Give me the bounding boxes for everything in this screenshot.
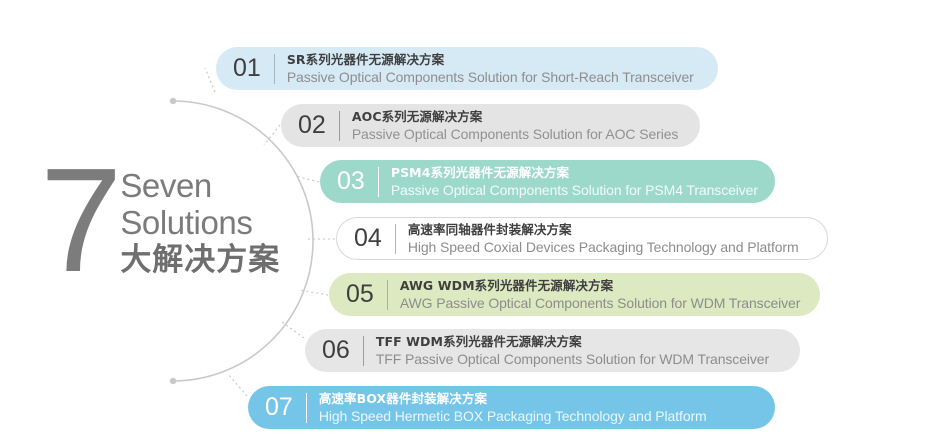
solution-pill-06[interactable]: 06TFF WDM系列光器件无源解决方案TFF Passive Optical … <box>305 329 800 372</box>
arc-endpoint-dot-1 <box>170 98 176 104</box>
connector-line-6 <box>282 322 304 338</box>
solution-pill-02[interactable]: 02AOC系列无源解决方案Passive Optical Components … <box>281 104 700 147</box>
pill-title-cn: TFF WDM系列光器件无源解决方案 <box>376 334 769 350</box>
pill-title-en: TFF Passive Optical Components Solution … <box>376 350 769 368</box>
connector-line-2 <box>264 125 280 145</box>
title-line-chinese: 大解决方案 <box>120 242 280 279</box>
pill-number: 06 <box>305 338 363 363</box>
pill-number: 02 <box>281 113 339 138</box>
pill-text-group: 高速率同轴器件封装解决方案High Speed Coxial Devices P… <box>396 222 817 256</box>
title-line-seven: Seven <box>120 167 280 204</box>
connector-line-7 <box>228 374 247 396</box>
pill-number: 07 <box>248 395 306 420</box>
pill-number: 03 <box>320 169 378 194</box>
pill-title-cn: 高速率BOX器件封装解决方案 <box>319 391 707 407</box>
pill-number: 04 <box>337 226 395 251</box>
solution-pill-07[interactable]: 07高速率BOX器件封装解决方案High Speed Hermetic BOX … <box>248 386 775 429</box>
pill-text-group: TFF WDM系列光器件无源解决方案TFF Passive Optical Co… <box>364 334 787 368</box>
pill-title-en: Passive Optical Components Solution for … <box>287 68 694 86</box>
big-number-seven: 7 <box>40 160 118 282</box>
pill-text-group: AWG WDM系列光器件无源解决方案AWG Passive Optical Co… <box>388 278 819 312</box>
title-line-solutions: Solutions <box>120 204 280 241</box>
pill-number: 01 <box>216 56 274 81</box>
title-block: 7 Seven Solutions 大解决方案 <box>40 158 320 298</box>
pill-title-en: AWG Passive Optical Components Solution … <box>400 294 801 312</box>
pill-number: 05 <box>329 282 387 307</box>
pill-title-cn: AOC系列无源解决方案 <box>352 109 679 125</box>
pill-title-cn: 高速率同轴器件封装解决方案 <box>408 222 799 238</box>
pill-title-en: High Speed Coxial Devices Packaging Tech… <box>408 238 799 256</box>
pill-title-cn: SR系列光器件无源解决方案 <box>287 52 694 68</box>
pill-text-group: SR系列光器件无源解决方案Passive Optical Components … <box>275 52 712 86</box>
solution-pill-04[interactable]: 04高速率同轴器件封装解决方案High Speed Coxial Devices… <box>336 217 828 260</box>
solution-pill-01[interactable]: 01SR系列光器件无源解决方案Passive Optical Component… <box>216 47 718 90</box>
arc-endpoint-dot-2 <box>170 378 176 384</box>
title-text-stack: Seven Solutions 大解决方案 <box>120 167 280 279</box>
solution-pill-05[interactable]: 05AWG WDM系列光器件无源解决方案AWG Passive Optical … <box>329 273 820 316</box>
pill-text-group: PSM4系列光器件无源解决方案Passive Optical Component… <box>379 165 776 199</box>
pill-text-group: AOC系列无源解决方案Passive Optical Components So… <box>340 109 697 143</box>
pill-title-cn: AWG WDM系列光器件无源解决方案 <box>400 278 801 294</box>
pill-title-en: Passive Optical Components Solution for … <box>391 181 758 199</box>
solution-pill-03[interactable]: 03PSM4系列光器件无源解决方案Passive Optical Compone… <box>320 160 775 203</box>
pill-title-cn: PSM4系列光器件无源解决方案 <box>391 165 758 181</box>
connector-line-1 <box>205 68 215 92</box>
pill-title-en: Passive Optical Components Solution for … <box>352 125 679 143</box>
pill-title-en: High Speed Hermetic BOX Packaging Techno… <box>319 407 707 425</box>
pill-text-group: 高速率BOX器件封装解决方案High Speed Hermetic BOX Pa… <box>307 391 725 425</box>
infographic-canvas: 7 Seven Solutions 大解决方案 01SR系列光器件无源解决方案P… <box>0 0 933 445</box>
